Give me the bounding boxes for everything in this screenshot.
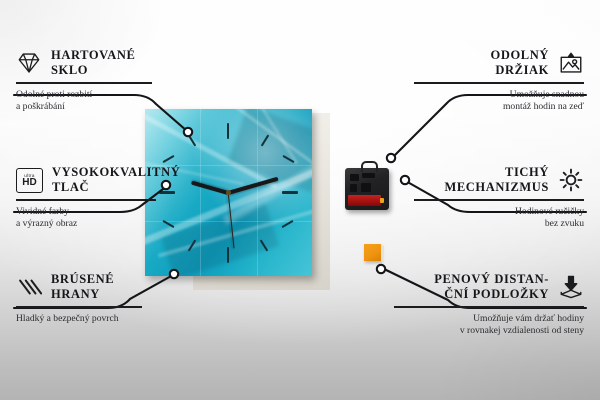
infographic-canvas: HARTOVANÉ SKLO Odolné proti rozbití a po… <box>0 0 600 400</box>
feature-divider <box>414 82 584 84</box>
feature-desc-line2: montáž hodin na zeď <box>414 101 584 113</box>
mechanism-hanger-loop <box>361 161 378 172</box>
picture-hanger-icon <box>558 50 584 76</box>
gear-icon <box>558 167 584 193</box>
feature-silent-mechanism: TICHÝ MECHANIZMUS Hodinové ručičky bez z… <box>414 165 584 230</box>
feature-desc-line1: Vividné farby <box>16 206 196 218</box>
feature-title-line2: MECHANIZMUS <box>444 180 549 195</box>
feature-title-line2: DRŽIAK <box>491 63 549 78</box>
feature-high-quality-print: ultra HD VYSOKOKVALITNÝ TLAČ Vividné far… <box>16 165 196 230</box>
feature-desc-line1: Umožňuje vám držať hodiny <box>394 313 584 325</box>
feature-divider <box>16 306 142 308</box>
clock-tick <box>227 123 229 139</box>
feature-divider <box>394 306 584 308</box>
feature-foam-pads: PENOVÝ DISTAN- ČNÍ PODLOŽKY Umožňuje vám… <box>394 272 584 337</box>
clock-tick <box>282 191 298 194</box>
feature-divider <box>16 199 156 201</box>
clock-hub <box>226 190 231 195</box>
feature-title-line1: ODOLNÝ <box>491 48 549 63</box>
feature-desc-line2: bez zvuku <box>414 218 584 230</box>
feature-desc-line1: Hladký a bezpečný povrch <box>16 313 186 325</box>
foam-distance-pad <box>364 244 381 261</box>
feature-title-line2: ČNÍ PODLOŽKY <box>434 287 549 302</box>
mechanism-detail <box>361 183 371 192</box>
diagonal-lines-icon <box>16 274 42 300</box>
feature-desc-line1: Umožňuje snadnou <box>414 89 584 101</box>
feature-ground-edges: BRÚSENÉ HRANY Hladký a bezpečný povrch <box>16 272 186 325</box>
feature-title-line2: TLAČ <box>52 180 180 195</box>
feature-durable-holder: ODOLNÝ DRŽIAK Umožňuje snadnou montáž ho… <box>414 48 584 113</box>
badge-main-label: HD <box>22 178 36 188</box>
feature-title-line1: TICHÝ <box>444 165 549 180</box>
mechanism-detail <box>362 173 375 178</box>
feature-title-line2: SKLO <box>51 63 135 78</box>
feature-title-line1: PENOVÝ DISTAN- <box>434 272 549 287</box>
feature-divider <box>16 82 152 84</box>
mechanism-detail <box>350 174 359 181</box>
feature-title-line1: BRÚSENÉ <box>51 272 114 287</box>
mechanism-battery <box>348 195 381 206</box>
feature-tempered-glass: HARTOVANÉ SKLO Odolné proti rozbití a po… <box>16 48 186 113</box>
feature-desc-line2: a poškrábání <box>16 101 186 113</box>
mechanism-detail <box>350 184 357 192</box>
ultra-hd-badge-icon: ultra HD <box>16 168 43 193</box>
feature-desc-line2: a výrazný obraz <box>16 218 196 230</box>
feature-title-line2: HRANY <box>51 287 114 302</box>
feature-desc-line1: Hodinové ručičky <box>414 206 584 218</box>
feature-desc-line2: v rovnakej vzdialenosti od steny <box>394 325 584 337</box>
clock-mechanism <box>345 168 389 210</box>
foam-pad-arrow-icon <box>558 274 584 300</box>
feature-divider <box>414 199 584 201</box>
diamond-icon <box>16 50 42 76</box>
feature-desc-line1: Odolné proti rozbití <box>16 89 186 101</box>
clock-tick <box>227 247 229 263</box>
feature-title-line1: VYSOKOKVALITNÝ <box>52 165 180 180</box>
feature-title-line1: HARTOVANÉ <box>51 48 135 63</box>
